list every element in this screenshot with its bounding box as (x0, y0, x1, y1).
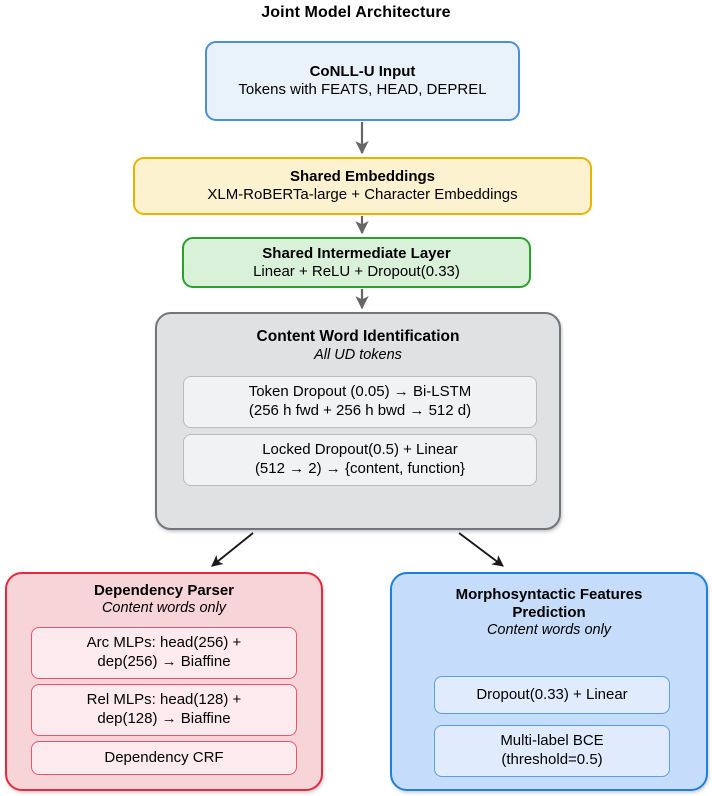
parser-inner-box-dependency-crf[interactable]: Dependency CRF (31, 741, 297, 775)
node-morphosyntactic-features-title-line2: Prediction (512, 604, 585, 622)
cwi-inner-box-bilstm-line2: (256 h fwd + 256 h bwd → 512 d) (249, 402, 471, 421)
node-shared-embeddings[interactable]: Shared Embeddings XLM-RoBERTa-large + Ch… (133, 157, 592, 215)
feats-inner-box-multilabel-bce-line2: (threshold=0.5) (501, 751, 602, 770)
node-morphosyntactic-features-scope: Content words only (487, 622, 611, 639)
node-shared-embeddings-subtitle: XLM-RoBERTa-large + Character Embeddings (207, 186, 517, 204)
node-conllu-input-subtitle: Tokens with FEATS, HEAD, DEPREL (238, 81, 486, 99)
feats-inner-box-dropout-linear[interactable]: Dropout(0.33) + Linear (434, 676, 670, 714)
parser-inner-box-rel-mlps-line1: Rel MLPs: head(128) + (87, 691, 242, 710)
node-dependency-parser[interactable]: Dependency Parser Content words only Arc… (5, 572, 323, 791)
node-shared-intermediate-layer-subtitle: Linear + ReLU + Dropout(0.33) (253, 263, 460, 281)
cwi-inner-box-locked-dropout-line1: Locked Dropout(0.5) + Linear (262, 441, 458, 460)
feats-inner-box-multilabel-bce[interactable]: Multi-label BCE (threshold=0.5) (434, 725, 670, 777)
parser-inner-box-rel-mlps-line2: dep(128) → Biaffine (97, 710, 230, 729)
edge-cwi-to-morphosyntactic-features (459, 533, 503, 566)
node-conllu-input[interactable]: CoNLL-U Input Tokens with FEATS, HEAD, D… (205, 41, 520, 121)
feats-inner-box-dropout-linear-line1: Dropout(0.33) + Linear (476, 686, 627, 705)
cwi-inner-box-bilstm-line1: Token Dropout (0.05) → Bi-LSTM (249, 383, 472, 402)
node-dependency-parser-title: Dependency Parser (94, 582, 234, 600)
parser-inner-box-arc-mlps-line2: dep(256) → Biaffine (97, 653, 230, 672)
cwi-inner-box-locked-dropout-line2: (512 → 2) → {content, function} (255, 460, 465, 479)
page-title: Joint Model Architecture (0, 4, 712, 22)
node-morphosyntactic-features-prediction[interactable]: Morphosyntactic Features Prediction Cont… (390, 572, 708, 791)
node-morphosyntactic-features-title-line1: Morphosyntactic Features (456, 586, 643, 604)
node-content-word-identification-scope: All UD tokens (314, 347, 402, 364)
node-shared-intermediate-layer-title: Shared Intermediate Layer (262, 245, 450, 263)
node-shared-intermediate-layer[interactable]: Shared Intermediate Layer Linear + ReLU … (182, 237, 531, 288)
node-dependency-parser-scope: Content words only (102, 600, 226, 617)
node-shared-embeddings-title: Shared Embeddings (290, 168, 435, 186)
node-content-word-identification-title: Content Word Identification (257, 328, 460, 347)
parser-inner-box-rel-mlps[interactable]: Rel MLPs: head(128) + dep(128) → Biaffin… (31, 684, 297, 736)
feats-inner-box-multilabel-bce-line1: Multi-label BCE (500, 732, 603, 751)
cwi-inner-box-locked-dropout[interactable]: Locked Dropout(0.5) + Linear (512 → 2) →… (183, 434, 537, 486)
parser-inner-box-dependency-crf-line1: Dependency CRF (104, 749, 223, 768)
edge-cwi-to-dependency-parser (212, 533, 253, 566)
parser-inner-box-arc-mlps[interactable]: Arc MLPs: head(256) + dep(256) → Biaffin… (31, 627, 297, 679)
node-conllu-input-title: CoNLL-U Input (310, 63, 416, 81)
parser-inner-box-arc-mlps-line1: Arc MLPs: head(256) + (87, 634, 242, 653)
node-content-word-identification[interactable]: Content Word Identification All UD token… (155, 312, 561, 530)
cwi-inner-box-bilstm[interactable]: Token Dropout (0.05) → Bi-LSTM (256 h fw… (183, 376, 537, 428)
